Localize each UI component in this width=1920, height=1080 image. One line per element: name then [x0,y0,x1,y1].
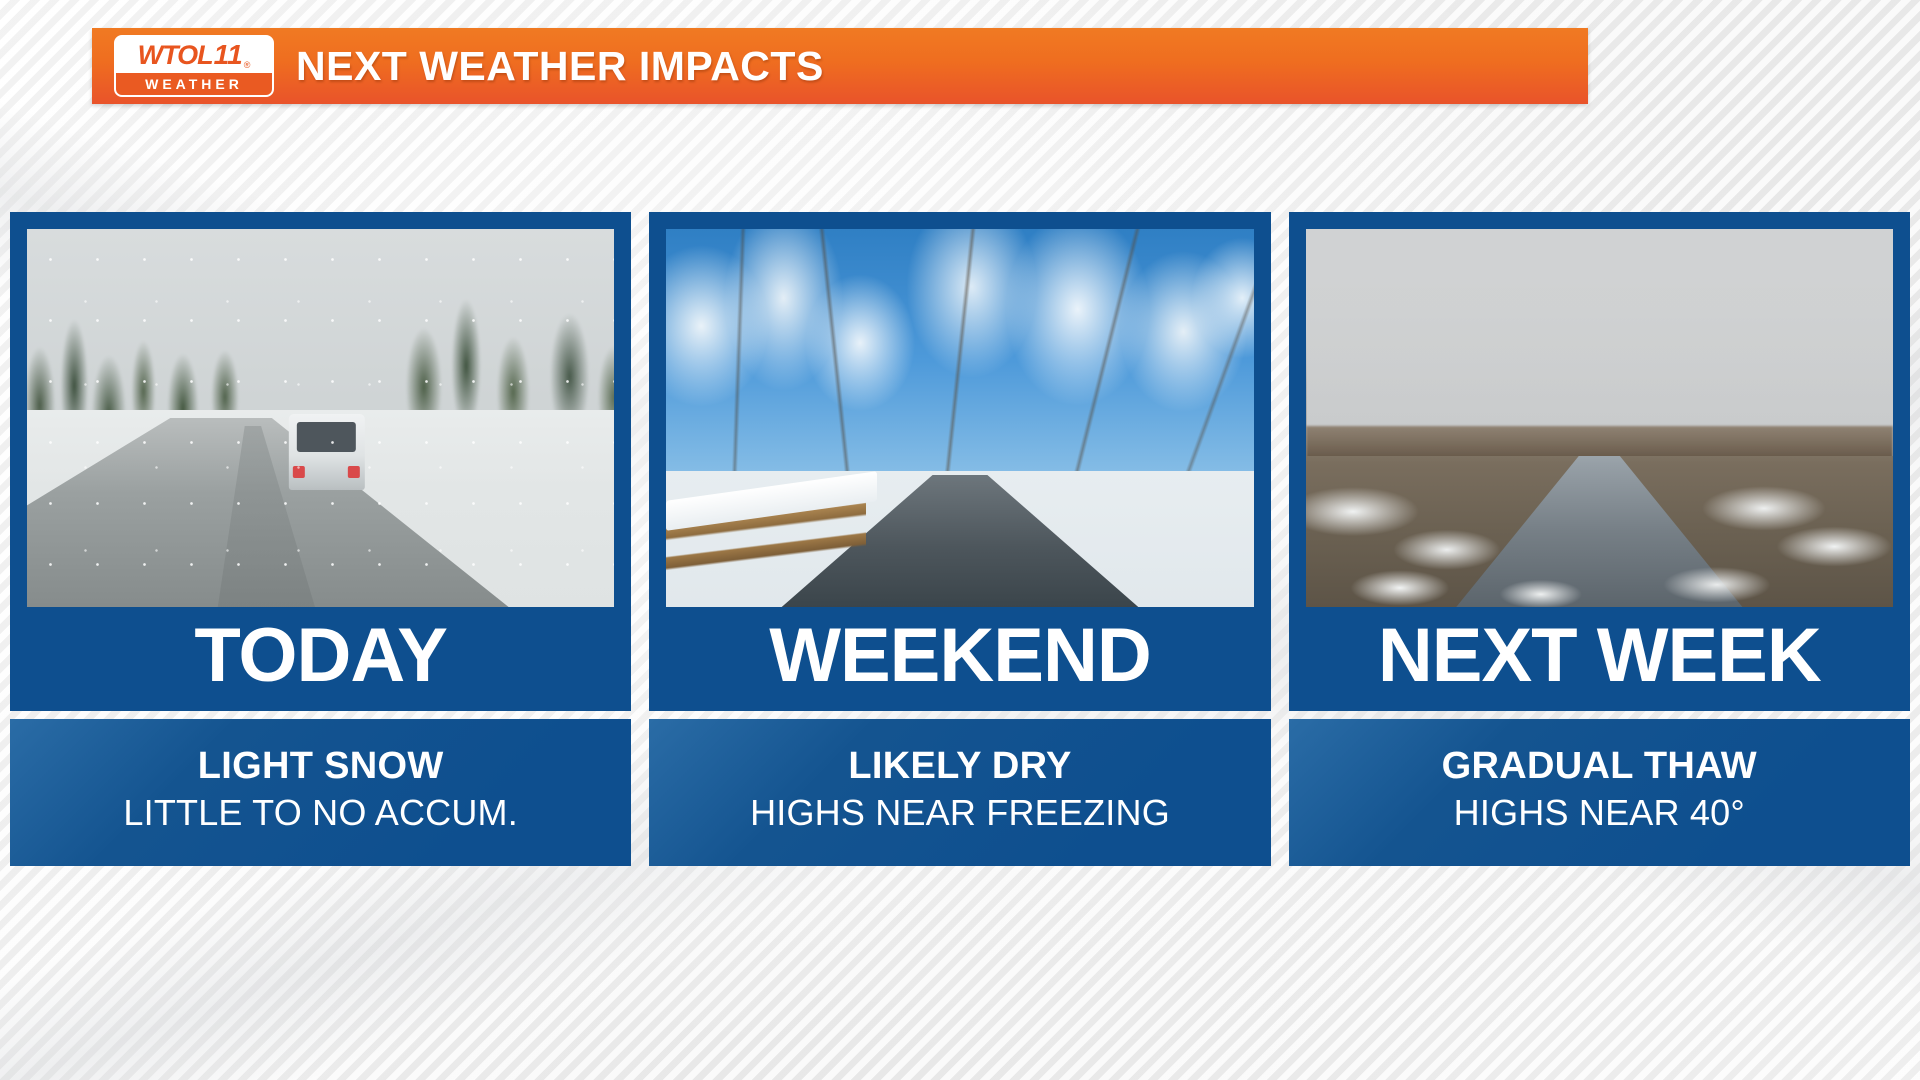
impacts-panel-row: TODAY LIGHT SNOW LITTLE TO NO ACCUM. WEE… [10,212,1910,866]
caption-detail: HIGHS NEAR 40° [1454,791,1745,835]
registered-trademark-icon: ® [244,60,251,70]
photo-branches [666,229,1253,501]
panel-title-next-week: NEXT WEEK [1306,607,1893,711]
foggy-thawing-field-photo [1306,229,1893,607]
wtol11-weather-logo: WTOL 11 ® WEATHER [114,35,274,97]
logo-call-letters: WTOL [138,42,213,69]
logo-channel-number: 11 [214,41,243,69]
logo-sub-label: WEATHER [145,77,243,91]
caption-headline: LIGHT SNOW [198,744,444,789]
caption-headline: LIKELY DRY [848,744,1071,789]
panel-caption-today: LIGHT SNOW LITTLE TO NO ACCUM. [10,719,631,866]
photo-snowflakes [27,229,614,607]
header-bar: WTOL 11 ® WEATHER NEXT WEATHER IMPACTS [92,28,1588,104]
page-title: NEXT WEATHER IMPACTS [296,43,824,90]
panel-frame: WEEKEND [649,212,1270,711]
panel-title-weekend: WEEKEND [666,607,1253,711]
caption-detail: LITTLE TO NO ACCUM. [123,791,518,835]
frosted-trees-over-road-photo [666,229,1253,607]
caption-headline: GRADUAL THAW [1442,744,1757,789]
logo-wordmark-row: WTOL 11 ® [116,37,272,73]
panel-caption-weekend: LIKELY DRY HIGHS NEAR FREEZING [649,719,1270,866]
panel-frame: NEXT WEEK [1289,212,1910,711]
logo-sub-label-row: WEATHER [116,73,272,95]
panel-title-today: TODAY [27,607,614,711]
impact-panel-weekend[interactable]: WEEKEND LIKELY DRY HIGHS NEAR FREEZING [649,212,1270,866]
snowy-road-with-vehicle-photo [27,229,614,607]
panel-caption-next-week: GRADUAL THAW HIGHS NEAR 40° [1289,719,1910,866]
photo-fog-overlay [1306,229,1893,607]
impact-panel-next-week[interactable]: NEXT WEEK GRADUAL THAW HIGHS NEAR 40° [1289,212,1910,866]
panel-frame: TODAY [10,212,631,711]
impact-panel-today[interactable]: TODAY LIGHT SNOW LITTLE TO NO ACCUM. [10,212,631,866]
caption-detail: HIGHS NEAR FREEZING [750,791,1170,835]
